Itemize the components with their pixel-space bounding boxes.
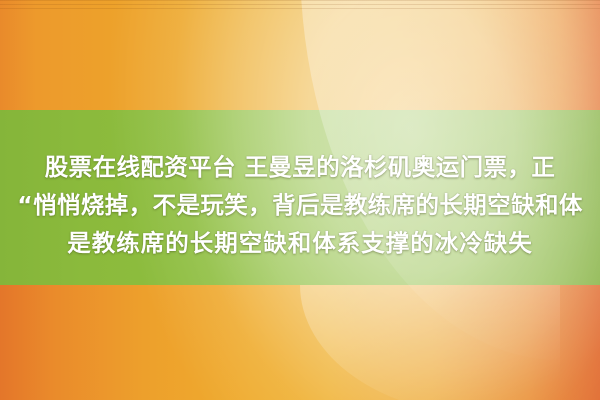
- green-band-middle: [0, 110, 600, 285]
- orange-band-bottom: [0, 285, 600, 400]
- orange-band-top: [0, 0, 600, 110]
- promo-banner: 股票在线配资平台 王曼昱的洛杉矶奥运门票，正 “悄悄烧掉，不是玩笑，背后是教练席…: [0, 0, 600, 400]
